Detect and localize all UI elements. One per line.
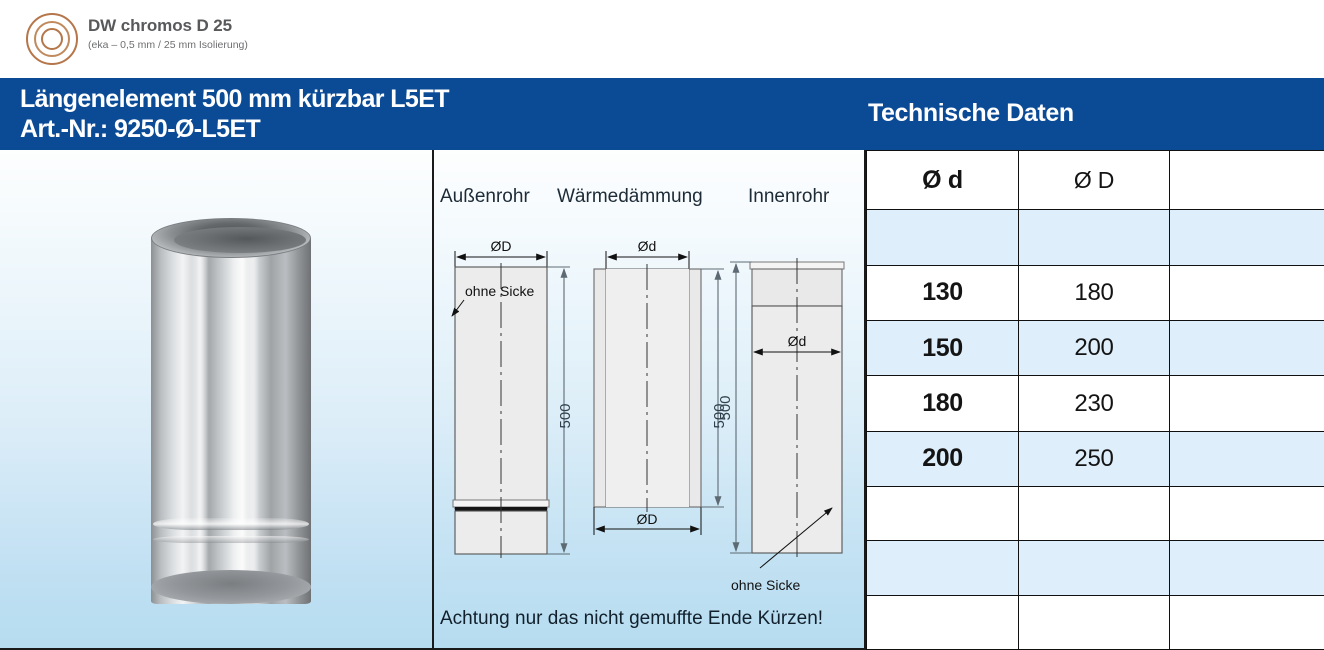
technical-data-table: Ø d Ø D 130 180 150 [866,150,1324,650]
table-row: 200 250 [867,431,1324,486]
cell-inner-diameter [867,210,1019,265]
cell-extra [1170,376,1324,431]
product-article-number: Art.-Nr.: 9250-Ø-L5ET [20,114,449,144]
outer-pipe-length-label: 500 [557,403,574,428]
cell-outer-diameter [1019,541,1170,595]
brand-text-block: DW chromos D 25 (eka – 0,5 mm / 25 mm Is… [88,16,248,52]
product-photo [143,218,318,608]
table-row [867,487,1324,541]
outer-pipe-width-label: ØD [491,238,512,254]
cell-extra [1170,595,1324,649]
brand-subtitle: (eka – 0,5 mm / 25 mm Isolierung) [88,38,248,52]
table-row: 130 180 [867,265,1324,320]
table-row [867,595,1324,649]
cell-outer-diameter [1019,595,1170,649]
pipe-top-inner-bore [174,227,306,253]
cell-outer-diameter [1019,210,1170,265]
technical-data-title: Technische Daten [868,98,1074,128]
cell-outer-diameter: 200 [1019,321,1170,376]
cell-inner-diameter: 180 [867,376,1019,431]
pipe-highlight-primary [191,238,209,600]
cell-extra [1170,321,1324,376]
cell-outer-diameter: 180 [1019,265,1170,320]
insulation-inner-diameter-label: Ød [638,238,657,254]
pipe-bottom-edge [151,570,311,604]
cell-inner-diameter [867,541,1019,595]
table-header-inner-diameter: Ø d [867,151,1019,210]
technical-drawing-panel: Außenrohr Wärmedämmung Innenrohr [434,150,866,650]
brand-title: DW chromos D 25 [88,16,248,36]
cell-outer-diameter: 250 [1019,431,1170,486]
table-row [867,210,1324,265]
drawing-inner-pipe: Ød 500 ohne Sicke [717,258,844,593]
product-banner: Längenelement 500 mm kürzbar L5ET Art.-N… [0,78,1324,150]
table-row [867,541,1324,595]
drawing-insulation: Ød ØD [594,238,728,535]
cell-inner-diameter: 200 [867,431,1019,486]
technical-drawings-svg: ØD ohne Sicke 500 [434,150,866,650]
cell-extra [1170,265,1324,320]
cell-inner-diameter [867,595,1019,649]
insulation-outer-diameter-label: ØD [637,511,658,527]
inner-pipe-note: ohne Sicke [731,577,800,593]
cell-extra [1170,210,1324,265]
inner-pipe-length-label: 500 [717,395,734,420]
table-header-outer-diameter: Ø D [1019,151,1170,210]
pipe-weld-bead-lower [153,536,309,543]
drawing-outer-pipe: ØD ohne Sicke 500 [452,238,574,558]
pipe-top-opening [151,218,311,258]
pipe-weld-bead [153,518,309,530]
inner-pipe-diameter-label: Ød [788,333,807,349]
cell-outer-diameter: 230 [1019,376,1170,431]
datasheet-page: DW chromos D 25 (eka – 0,5 mm / 25 mm Is… [0,0,1324,650]
cell-inner-diameter: 130 [867,265,1019,320]
cell-extra [1170,487,1324,541]
pipe-highlight-secondary [247,242,259,598]
table-header-row: Ø d Ø D [867,151,1324,210]
pipe-body [151,236,311,604]
table-row: 150 200 [867,321,1324,376]
product-title-block: Längenelement 500 mm kürzbar L5ET Art.-N… [20,84,449,144]
cutting-warning: Achtung nur das nicht gemuffte Ende Kürz… [440,608,823,630]
cell-inner-diameter [867,487,1019,541]
outer-pipe-note: ohne Sicke [465,283,534,299]
cell-inner-diameter: 150 [867,321,1019,376]
brand-header: DW chromos D 25 (eka – 0,5 mm / 25 mm Is… [0,0,1324,78]
table-row: 180 230 [867,376,1324,431]
table-header-empty [1170,151,1324,210]
product-name: Längenelement 500 mm kürzbar L5ET [20,84,449,114]
product-photo-panel [0,150,434,650]
cell-extra [1170,541,1324,595]
cell-extra [1170,431,1324,486]
technical-data-panel: Ø d Ø D 130 180 150 [866,150,1324,650]
cell-outer-diameter [1019,487,1170,541]
concentric-rings-logo-icon [24,11,80,67]
content-panels: Außenrohr Wärmedämmung Innenrohr [0,150,1324,650]
